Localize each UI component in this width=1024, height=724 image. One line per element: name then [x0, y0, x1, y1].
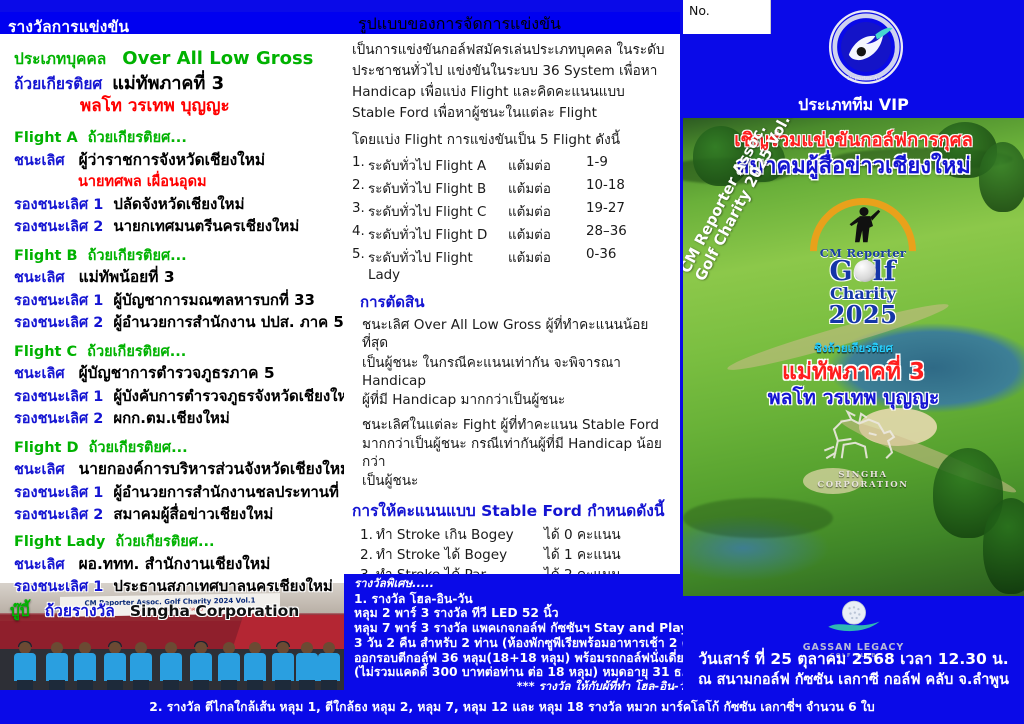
flight-runner-row-4-0: รองชนะเลิศ 1ประธานสภาเทศบาลนครเชียงใหม่ — [14, 578, 344, 595]
row-hc-label: แต้มต่อ — [508, 247, 586, 283]
photo-person — [160, 642, 182, 690]
scoring-row-1: 2.ทำ Stroke ได้ Bogeyได้ 1 คะแนน — [360, 546, 674, 566]
photo-person — [272, 642, 294, 690]
runner-value: ผู้อำนวยการสำนักงาน ปปส. ภาค 5 — [113, 313, 344, 331]
row-no: 1. — [352, 155, 368, 176]
photo-person — [14, 642, 36, 690]
overall-trophy-name-row: พลโท วรเทพ บุญญะ — [80, 98, 344, 115]
flight-winner-row-3: ชนะเลิศนายกองค์การบริหารส่วนจังหวัดเชียง… — [14, 461, 344, 478]
row-no: 3. — [352, 201, 368, 222]
runner-label: รองชนะเลิศ 1 — [14, 197, 103, 213]
number-box[interactable]: No. — [683, 0, 771, 34]
flight-winner-name-0: นายทศพล เผื่อนอุดม — [78, 173, 344, 190]
row-hc-label: แต้มต่อ — [508, 224, 586, 245]
runner-value: ผกก.ตม.เชียงใหม่ — [113, 409, 230, 427]
runner-value: ปลัดจังหวัดเชียงใหม่ — [113, 195, 244, 213]
winner-name: นายทศพล เผื่อนอุดม — [78, 174, 207, 190]
winner-value: ผอ.ททท. สำนักงานเชียงใหม่ — [79, 555, 271, 573]
overall-category-label: ประเภทบุคคล — [14, 50, 106, 68]
judging-p2-2: เป็นผู้ชนะ — [362, 472, 674, 490]
intro-line-3: Stable Ford เพื่อหาผู้ชนะในแต่ละ Flight — [352, 104, 674, 122]
middle-header-wrap: รูปแบบของการจัดการแข่งขัน — [344, 12, 680, 35]
bottom-strip-line: 2. รางวัล ตีไกลใกล้เส้น หลุม 1, ตีใกล้ธง… — [0, 690, 1024, 717]
gassan-ball-icon — [823, 598, 885, 638]
intro-line-1: ประชาชนทั่วไป แข่งขันในระบบ 36 System เพ… — [352, 62, 674, 80]
flight-runner-row-0-0: รองชนะเลิศ 1ปลัดจังหวัดเชียงใหม่ — [14, 196, 344, 213]
row-hc: 1-9 — [586, 155, 608, 176]
flight-winner-row-0: ชนะเลิศผู้ว่าราชการจังหวัดเชียงใหม่ — [14, 152, 344, 169]
flight-winner-row-4: ชนะเลิศผอ.ททท. สำนักงานเชียงใหม่ — [14, 556, 344, 573]
runner-label: รองชนะเลิศ 2 — [14, 411, 103, 427]
flight-row-2: 3.ระดับทั่วไป Flight Cแต้มต่อ19-27 — [352, 201, 674, 222]
photo-person — [46, 642, 68, 690]
flight-runner-row-1-0: รองชนะเลิศ 1ผู้บัญชาการมณฑลหารบกที่ 33 — [14, 292, 344, 309]
golfer-silhouette-icon — [846, 206, 882, 246]
intro-line-2: Handicap เพื่อแบ่ง Flight และคิดคะแนนแบบ — [352, 83, 674, 101]
row-name: ระดับทั่วไป Flight C — [368, 201, 508, 222]
flight-row-1: 2.ระดับทั่วไป Flight Bแต้มต่อ10-18 — [352, 178, 674, 199]
judging-header: การตัดสิน — [360, 290, 674, 314]
flight-name: Flight B — [14, 248, 78, 264]
singha-logo: SINGHA CORPORATION — [793, 408, 933, 490]
photo-person — [244, 642, 266, 690]
flight-name: Flight D — [14, 440, 79, 456]
singha-caption: SINGHA CORPORATION — [793, 470, 933, 490]
flight-winner-row-1: ชนะเลิศแม่ทัพน้อยที่ 3 — [14, 269, 344, 286]
flight-runner-row-2-1: รองชนะเลิศ 2ผกก.ตม.เชียงใหม่ — [14, 410, 344, 427]
overall-trophy-holder: แม่ทัพภาคที่ 3 — [112, 73, 224, 94]
awards-column: ประเภทบุคคลOver All Low Grossถ้วยเกียรติ… — [0, 34, 344, 600]
runner-label: รองชนะเลิศ 2 — [14, 315, 103, 331]
row-no: 5. — [352, 247, 368, 283]
booby-label: บู๊บี้ — [10, 602, 30, 620]
flight-trophy: ถ้วยเกียรติยศ... — [89, 440, 188, 456]
flight-header-4: Flight Ladyถ้วยเกียรติยศ... — [14, 533, 344, 550]
row-no: 2. — [352, 178, 368, 199]
row-hc: 10-18 — [586, 178, 625, 199]
flight-name: Flight Lady — [14, 534, 105, 550]
row-hc: 28–36 — [586, 224, 627, 245]
row-name: ระดับทั่วไป Flight Lady — [368, 247, 508, 283]
flight-runner-row-0-1: รองชนะเลิศ 2นายกเทศมนตรีนครเชียงใหม่ — [14, 218, 344, 235]
runner-value: ผู้บัญชาการมณฑลหารบกที่ 33 — [113, 291, 315, 309]
winner-label: ชนะเลิศ — [14, 366, 65, 382]
flight-winner-row-2: ชนะเลิศผู้บัญชาการตำรวจภูธรภาค 5 — [14, 365, 344, 382]
row-name: ระดับทั่วไป Flight D — [368, 224, 508, 245]
winner-value: แม่ทัพน้อยที่ 3 — [79, 268, 175, 286]
row-no: 4. — [352, 224, 368, 245]
runner-value: นายกเทศมนตรีนครเชียงใหม่ — [113, 217, 299, 235]
flight-header-2: Flight Cถ้วยเกียรติยศ... — [14, 343, 344, 360]
winner-value: ผู้บัญชาการตำรวจภูธรภาค 5 — [79, 364, 275, 382]
flight-runner-row-3-0: รองชนะเลิศ 1ผู้อำนวยการสำนักงานชลประทานท… — [14, 484, 344, 501]
flight-trophy: ถ้วยเกียรติยศ... — [115, 534, 214, 550]
photo-person — [130, 642, 152, 690]
flight-trophy: ถ้วยเกียรติยศ... — [88, 130, 187, 146]
logo-year: 2025 — [788, 300, 938, 329]
flight-header-3: Flight Dถ้วยเกียรติยศ... — [14, 439, 344, 456]
flight-header-0: Flight Aถ้วยเกียรติยศ... — [14, 129, 344, 146]
photo-person — [104, 642, 126, 690]
row-hc-label: แต้มต่อ — [508, 155, 586, 176]
overall-trophy-name: พลโท วรเทพ บุญญะ — [80, 96, 230, 116]
row-hc: 0-36 — [586, 247, 616, 283]
golf-course-photo: เชิญร่วมแข่งขันกอล์ฟการกุศล สมาคมผู้สื่อ… — [683, 118, 1024, 596]
runner-value: ผู้บังคับการตำรวจภูธรจังหวัดเชียงใหม่ — [113, 387, 357, 405]
cm-reporter-golf-charity-logo: CM Reporter Golf Charity 2025 — [788, 198, 938, 333]
runner-value: ผู้อำนวยการสำนักงานชลประทานที่ 1 — [113, 483, 354, 501]
booby-sponsor: Singha Corporation — [130, 602, 299, 620]
photo-person — [318, 642, 340, 690]
score-no: 2. — [360, 546, 376, 566]
runner-label: รองชนะเลิศ 1 — [14, 389, 103, 405]
winner-value: ผู้ว่าราชการจังหวัดเชียงใหม่ — [79, 151, 266, 169]
judging-p1-0: ชนะเลิศ Over All Low Gross ผู้ที่ทำคะแนน… — [362, 316, 674, 352]
divide-line: โดยแบ่ง Flight การแข่งขันเป็น 5 Flight ด… — [352, 131, 674, 149]
overall-trophy-label: ถ้วยเกียรติยศ — [14, 75, 102, 93]
score-points: ได้ 0 คะแนน — [544, 526, 621, 546]
row-hc-label: แต้มต่อ — [508, 201, 586, 222]
flight-table: 1.ระดับทั่วไป Flight Aแต้มต่อ1-92.ระดับท… — [352, 155, 674, 283]
photo-person — [190, 642, 212, 690]
flight-row-0: 1.ระดับทั่วไป Flight Aแต้มต่อ1-9 — [352, 155, 674, 176]
row-hc: 19-27 — [586, 201, 625, 222]
flight-trophy: ถ้วยเกียรติยศ... — [87, 344, 186, 360]
overall-category-row: ประเภทบุคคลOver All Low Gross — [14, 50, 344, 68]
runner-label: รองชนะเลิศ 1 — [14, 579, 103, 595]
vip-title: ประเภททีม VIP — [683, 93, 1024, 118]
overall-category-value: Over All Low Gross — [122, 48, 313, 69]
judging-p1-1: เป็นผู้ชนะ ในกรณีคะแนนเท่ากัน จะพิจารณา … — [362, 354, 674, 390]
format-column: เป็นการแข่งขันกอล์ฟสมัครเล่นประเภทบุคคล … — [344, 34, 680, 574]
winner-label: ชนะเลิศ — [14, 153, 65, 169]
flight-runner-row-1-1: รองชนะเลิศ 2ผู้อำนวยการสำนักงาน ปปส. ภาค… — [14, 314, 344, 331]
singha-lion-icon — [803, 408, 923, 466]
winner-label: ชนะเลิศ — [14, 557, 65, 573]
runner-label: รองชนะเลิศ 1 — [14, 485, 103, 501]
brochure-page: รางวัลการแข่งขัน รูปแบบของการจัดการแข่งข… — [0, 0, 1024, 724]
svg-text:Reporter Ass.: Reporter Ass. — [847, 76, 885, 82]
row-name: ระดับทั่วไป Flight A — [368, 155, 508, 176]
flight-runner-row-2-0: รองชนะเลิศ 1ผู้บังคับการตำรวจภูธรจังหวัด… — [14, 388, 344, 405]
runner-label: รองชนะเลิศ 2 — [14, 219, 103, 235]
event-venue: ณ สนามกอล์ฟ กัซซัน เลกาซี กอล์ฟ คลับ จ.ล… — [683, 668, 1024, 691]
score-points: ได้ 1 คะแนน — [544, 546, 621, 566]
bottom-strip: 2. รางวัล ตีไกลใกล้เส้น หลุม 1, ตีใกล้ธง… — [0, 690, 1024, 724]
score-no: 1. — [360, 526, 376, 546]
flight-lady-overlay: Flight Ladyถ้วยเกียรติยศ...ชนะเลิศผอ.ททท… — [0, 521, 344, 595]
photo-person — [74, 642, 96, 690]
scoring-row-0: 1.ทำ Stroke เกิน Bogeyได้ 0 คะแนน — [360, 526, 674, 546]
right-footer: GASSAN LEGACY GOLF CLUB วันเสาร์ ที่ 25 … — [683, 596, 1024, 690]
score-desc: ทำ Stroke ได้ Bogey — [376, 546, 544, 566]
intro-line-0: เป็นการแข่งขันกอล์ฟสมัครเล่นประเภทบุคคล … — [352, 41, 674, 59]
score-desc: ทำ Stroke เกิน Bogey — [376, 526, 544, 546]
row-name: ระดับทั่วไป Flight B — [368, 178, 508, 199]
judging-p1-2: ผู้ที่มี Handicap มากกว่าเป็นผู้ชนะ — [362, 391, 674, 409]
association-emblem-icon: Reporter Ass. — [827, 8, 905, 86]
judging-p2-1: มากกว่าเป็นผู้ชนะ กรณีเท่ากันผู้ที่มี Ha… — [362, 435, 674, 471]
row-hc-label: แต้มต่อ — [508, 178, 586, 199]
photo-person — [296, 642, 318, 690]
booby-prize-label: ถ้วยรางวัล — [45, 602, 115, 620]
flight-trophy: ถ้วยเกียรติยศ... — [88, 248, 187, 264]
flight-row-4: 5.ระดับทั่วไป Flight Ladyแต้มต่อ0-36 — [352, 247, 674, 283]
flight-name: Flight C — [14, 344, 77, 360]
runner-label: รองชนะเลิศ 1 — [14, 293, 103, 309]
booby-prize-row: บู๊บี้ ถ้วยรางวัล Singha Corporation — [10, 598, 299, 623]
judging-p2-0: ชนะเลิศในแต่ละ Fight ผู้ที่ทำคะแนน Stabl… — [362, 416, 674, 434]
winner-value: นายกองค์การบริหารส่วนจังหวัดเชียงใหม่ — [79, 460, 351, 478]
number-label: No. — [683, 0, 770, 18]
flight-name: Flight A — [14, 130, 78, 146]
photo-person — [218, 642, 240, 690]
flight-header-1: Flight Bถ้วยเกียรติยศ... — [14, 247, 344, 264]
flight-row-3: 4.ระดับทั่วไป Flight Dแต้มต่อ28–36 — [352, 224, 674, 245]
winner-label: ชนะเลิศ — [14, 270, 65, 286]
runner-value: ประธานสภาเทศบาลนครเชียงใหม่ — [113, 577, 332, 595]
scoring-header: การให้คะแนนแบบ Stable Ford กำหนดดังนี้ — [352, 498, 674, 523]
winner-label: ชนะเลิศ — [14, 462, 65, 478]
overall-trophy-row: ถ้วยเกียรติยศแม่ทัพภาคที่ 3 — [14, 75, 344, 93]
golf-ball-icon — [854, 260, 876, 282]
